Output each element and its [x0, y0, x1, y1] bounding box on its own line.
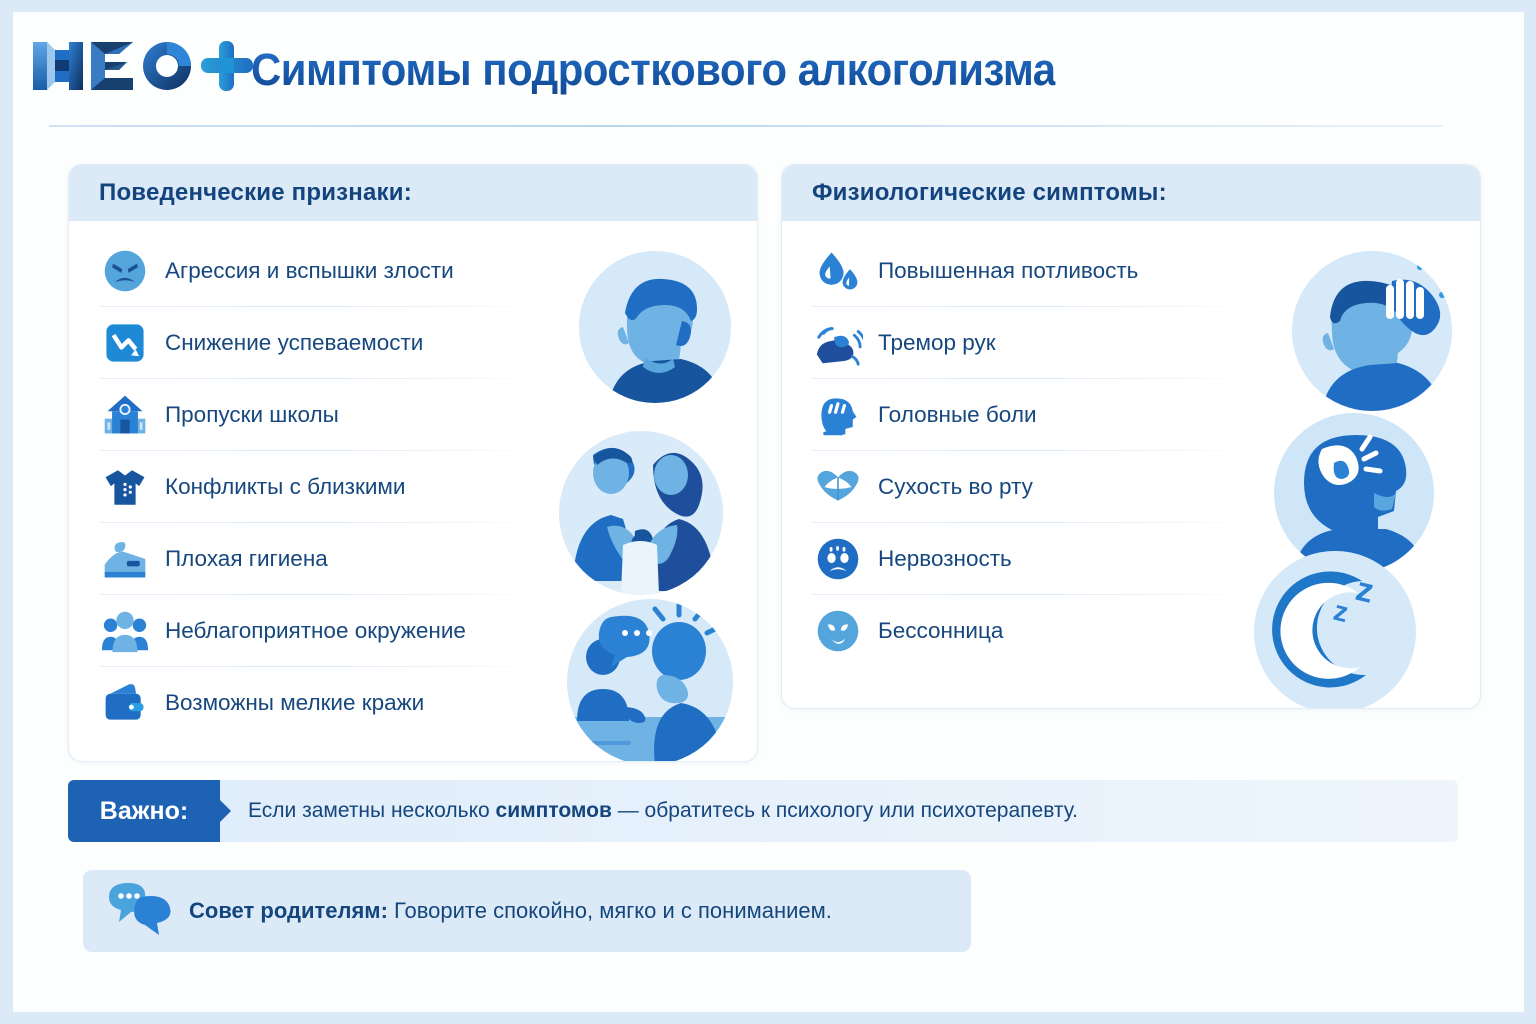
list-item[interactable]: Возможны мелкие кражи [99, 667, 757, 738]
list-item-label: Агрессия и вспышки злости [165, 258, 454, 284]
advice-banner: Совет родителям: Говорите спокойно, мягк… [83, 870, 971, 952]
list-item[interactable]: Тремор рук [812, 307, 1480, 378]
panel-physiological-body: z z Повышенная потливость [782, 221, 1480, 708]
list-item-label: Неблагоприятное окружение [165, 618, 466, 644]
panel-behavioral-signs: Поведенческие признаки: [68, 164, 758, 762]
important-text-before: Если заметны несколько [248, 799, 496, 822]
declining-chart-icon [99, 317, 151, 369]
panel-physiological-symptoms: Физиологические симптомы: [781, 164, 1481, 709]
important-text-bold: симптомов [496, 799, 612, 822]
list-item-label: Плохая гигиена [165, 546, 328, 572]
dry-lips-icon [812, 461, 864, 513]
shaking-hand-icon [812, 317, 864, 369]
list-item[interactable]: Плохая гигиена [99, 523, 757, 594]
neo-plus-logo [33, 36, 255, 96]
panel-behavioral-body: Агрессия и вспышки злости Снижение успев… [69, 221, 757, 761]
group-of-people-icon [99, 605, 151, 657]
list-item[interactable]: Сухость во рту [812, 451, 1480, 522]
important-tag-label: Важно: [100, 797, 188, 826]
list-item[interactable]: Нервозность [812, 523, 1480, 594]
list-item[interactable]: Бессонница [812, 595, 1480, 666]
soap-bar-icon [99, 533, 151, 585]
list-item-label: Возможны мелкие кражи [165, 690, 424, 716]
panel-physiological-header: Физиологические симптомы: [782, 165, 1480, 221]
advice-banner-text: Совет родителям: Говорите спокойно, мягк… [189, 898, 832, 924]
list-item[interactable]: Пропуски школы [99, 379, 757, 450]
behavioral-symptom-list: Агрессия и вспышки злости Снижение успев… [69, 235, 757, 738]
head-pain-icon [812, 389, 864, 441]
advice-lead-label: Совет родителям: [189, 898, 388, 923]
physiological-symptom-list: Повышенная потливость [782, 235, 1480, 666]
panel-behavioral-heading: Поведенческие признаки: [99, 179, 412, 207]
sleepless-face-icon [812, 605, 864, 657]
list-item-label: Бессонница [878, 618, 1003, 644]
list-item-label: Снижение успеваемости [165, 330, 423, 356]
list-item[interactable]: Головные боли [812, 379, 1480, 450]
tag-arrow-icon [219, 799, 231, 823]
list-item-label: Пропуски школы [165, 402, 339, 428]
list-item-label: Повышенная потливость [878, 258, 1138, 284]
header: Симптомы подросткового алкоголизма [13, 12, 1524, 140]
list-item-label: Головные боли [878, 402, 1037, 428]
panel-physiological-heading: Физиологические симптомы: [812, 179, 1167, 207]
list-item[interactable]: Снижение успеваемости [99, 307, 757, 378]
list-item[interactable]: Конфликты с близкими [99, 451, 757, 522]
panel-behavioral-header: Поведенческие признаки: [69, 165, 757, 221]
header-divider [49, 125, 1443, 127]
angry-face-icon [99, 245, 151, 297]
important-tag: Важно: [68, 780, 220, 842]
important-banner-text: Если заметны несколько симптомов — обрат… [248, 799, 1078, 823]
important-text-after: — обратитесь к психологу или психотерапе… [612, 799, 1078, 822]
list-item[interactable]: Повышенная потливость [812, 235, 1480, 306]
list-item[interactable]: Неблагоприятное окружение [99, 595, 757, 666]
page-title: Симптомы подросткового алкоголизма [251, 44, 1056, 96]
list-item-label: Тремор рук [878, 330, 996, 356]
wallet-icon [99, 677, 151, 729]
advice-body-text: Говорите спокойно, мягко и с пониманием. [388, 898, 832, 923]
tshirt-icon [99, 461, 151, 513]
list-item-label: Нервозность [878, 546, 1012, 572]
sweat-drops-icon [812, 245, 864, 297]
important-banner: Важно: Если заметны несколько симптомов … [68, 780, 1458, 842]
school-building-icon [99, 389, 151, 441]
list-item-label: Конфликты с близкими [165, 474, 405, 500]
worried-face-icon [812, 533, 864, 585]
list-item-label: Сухость во рту [878, 474, 1033, 500]
infographic-canvas: Симптомы подросткового алкоголизма Повед… [13, 12, 1524, 1012]
speech-bubbles-icon [105, 883, 179, 939]
list-item[interactable]: Агрессия и вспышки злости [99, 235, 757, 306]
